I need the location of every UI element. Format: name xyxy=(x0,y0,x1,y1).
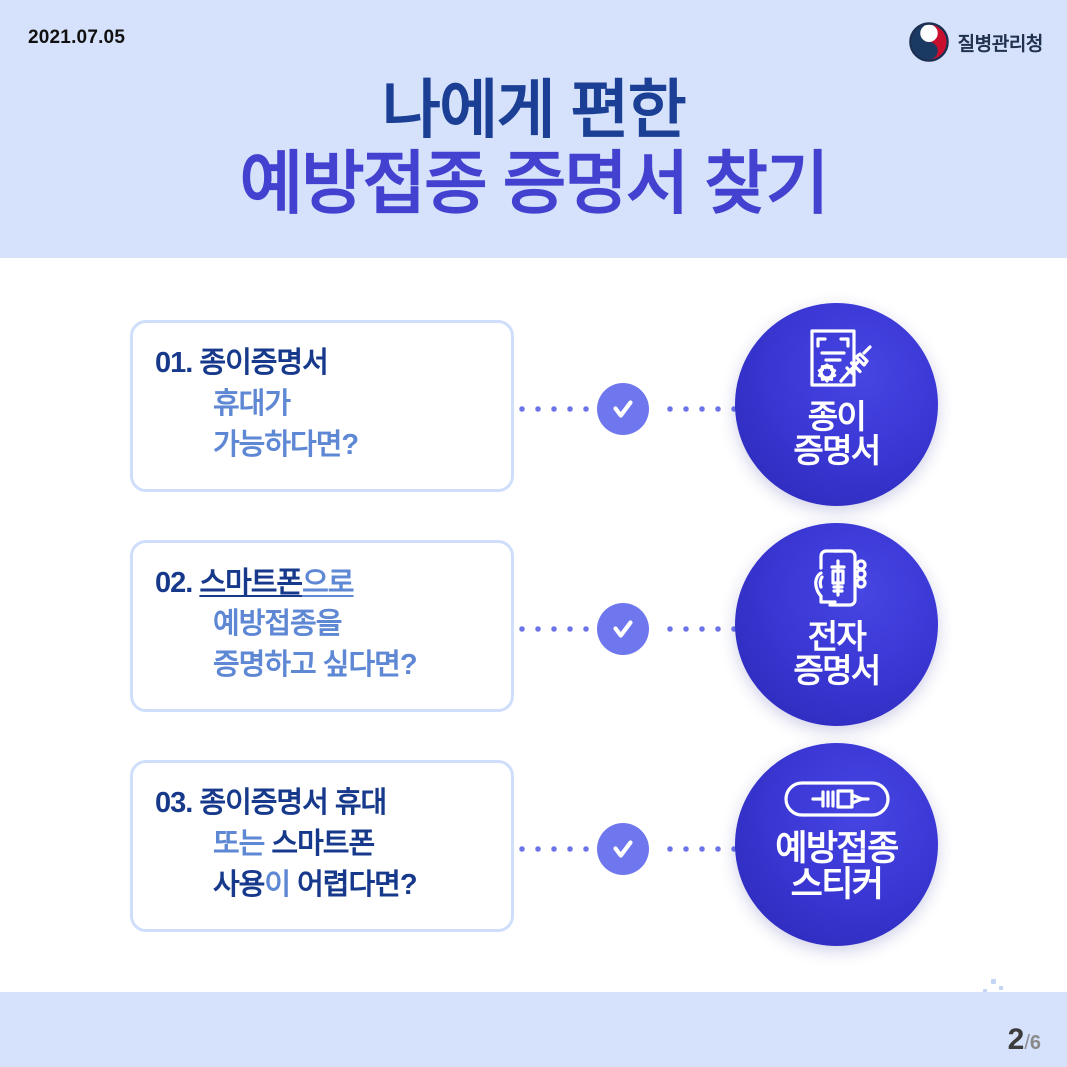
badge-label: 전자 증명서 xyxy=(793,620,879,689)
question-line: 또는 스마트폰 xyxy=(155,824,511,865)
question-segment: 예방접종을 xyxy=(213,608,341,640)
page-total: 6 xyxy=(1030,1032,1041,1054)
dotted-line-right xyxy=(662,406,740,412)
question-line: 예방접종을 xyxy=(155,604,511,645)
badge-label-line-2: 스티커 xyxy=(775,867,897,903)
question-line: 02. 스마트폰으로 xyxy=(155,563,511,604)
title-line-2: 예방접종 증명서 찾기 xyxy=(0,149,1067,219)
badge-label-line-1: 전자 xyxy=(793,620,879,654)
result-badge-paper-certificate[interactable]: 종이 증명서 xyxy=(735,303,938,506)
step-number: 03. xyxy=(155,787,192,819)
question-segment: 종이증명서 xyxy=(199,347,327,379)
badge-label-line-2: 증명서 xyxy=(793,434,879,468)
badge-label-line-2: 증명서 xyxy=(793,654,879,688)
question-segment: 스마트폰 xyxy=(199,567,302,599)
infographic-page: 2021.07.05 질병관리청 나에게 편한 예방접종 증명서 찾기 01. … xyxy=(0,0,1067,1067)
question-segment: 스마트폰 xyxy=(271,828,374,860)
badge-label: 예방접종 스티커 xyxy=(775,831,897,904)
connector-1 xyxy=(514,312,740,500)
question-segment: 증명하고 싶다면? xyxy=(213,649,417,681)
publish-date: 2021.07.05 xyxy=(28,27,125,49)
question-segment: 휴대가 xyxy=(213,388,290,420)
connector-3 xyxy=(514,752,740,940)
dotted-line-left xyxy=(514,406,592,412)
question-card-1[interactable]: 01. 종이증명서 휴대가 가능하다면? xyxy=(130,320,514,492)
question-line: 증명하고 싶다면? xyxy=(155,645,511,686)
hand-smartphone-syringe-icon xyxy=(800,547,874,617)
question-segment: 어렵다면? xyxy=(297,869,416,901)
badge-label-line-1: 종이 xyxy=(793,400,879,434)
question-segment: 가능하다면? xyxy=(213,429,358,461)
question-line: 사용이 어렵다면? xyxy=(155,865,511,906)
step-row-2: 02. 스마트폰으로 예방접종을 증명하고 싶다면? xyxy=(0,532,1067,752)
question-line: 휴대가 xyxy=(155,384,511,425)
step-row-1: 01. 종이증명서 휴대가 가능하다면? xyxy=(0,312,1067,532)
page-title: 나에게 편한 예방접종 증명서 찾기 xyxy=(0,78,1067,220)
result-badge-vaccination-sticker[interactable]: 예방접종 스티커 xyxy=(735,743,938,946)
dotted-line-left xyxy=(514,626,592,632)
dotted-line-right xyxy=(662,846,740,852)
check-circle-icon xyxy=(597,823,649,875)
taegeuk-logo-icon xyxy=(909,22,949,62)
dotted-line-left xyxy=(514,846,592,852)
brand-name: 질병관리청 xyxy=(958,29,1043,56)
step-number: 01. xyxy=(155,347,192,379)
header-band: 2021.07.05 질병관리청 나에게 편한 예방접종 증명서 찾기 xyxy=(0,0,1067,258)
page-current: 2 xyxy=(1008,1023,1025,1056)
question-card-3[interactable]: 03. 종이증명서 휴대 또는 스마트폰 사용이 어렵다면? xyxy=(130,760,514,932)
connector-2 xyxy=(514,532,740,720)
question-line: 01. 종이증명서 xyxy=(155,343,511,384)
badge-label-line-1: 예방접종 xyxy=(775,831,897,867)
page-indicator: 2/6 xyxy=(1008,1025,1041,1055)
brand-logo: 질병관리청 xyxy=(909,22,1043,62)
question-segment: 사용 xyxy=(213,869,264,901)
step-row-3: 03. 종이증명서 휴대 또는 스마트폰 사용이 어렵다면? xyxy=(0,752,1067,972)
footer-band: 2/6 xyxy=(0,992,1067,1067)
question-line: 가능하다면? xyxy=(155,425,511,466)
step-number: 02. xyxy=(155,567,192,599)
vaccination-sticker-syringe-icon xyxy=(783,777,891,821)
check-circle-icon xyxy=(597,383,649,435)
question-segment: 종이증명서 휴대 xyxy=(199,787,386,819)
badge-label: 종이 증명서 xyxy=(793,400,879,469)
question-line: 03. 종이증명서 휴대 xyxy=(155,783,511,824)
result-badge-electronic-certificate[interactable]: 전자 증명서 xyxy=(735,523,938,726)
dotted-line-right xyxy=(662,626,740,632)
title-line-1: 나에게 편한 xyxy=(0,78,1067,143)
question-card-2[interactable]: 02. 스마트폰으로 예방접종을 증명하고 싶다면? xyxy=(130,540,514,712)
question-segment: 이 xyxy=(264,869,297,901)
paper-certificate-syringe-icon xyxy=(800,327,874,397)
check-circle-icon xyxy=(597,603,649,655)
steps-area: 01. 종이증명서 휴대가 가능하다면? xyxy=(0,258,1067,992)
question-segment: 또는 xyxy=(213,828,271,860)
question-segment: 으로 xyxy=(302,567,353,599)
